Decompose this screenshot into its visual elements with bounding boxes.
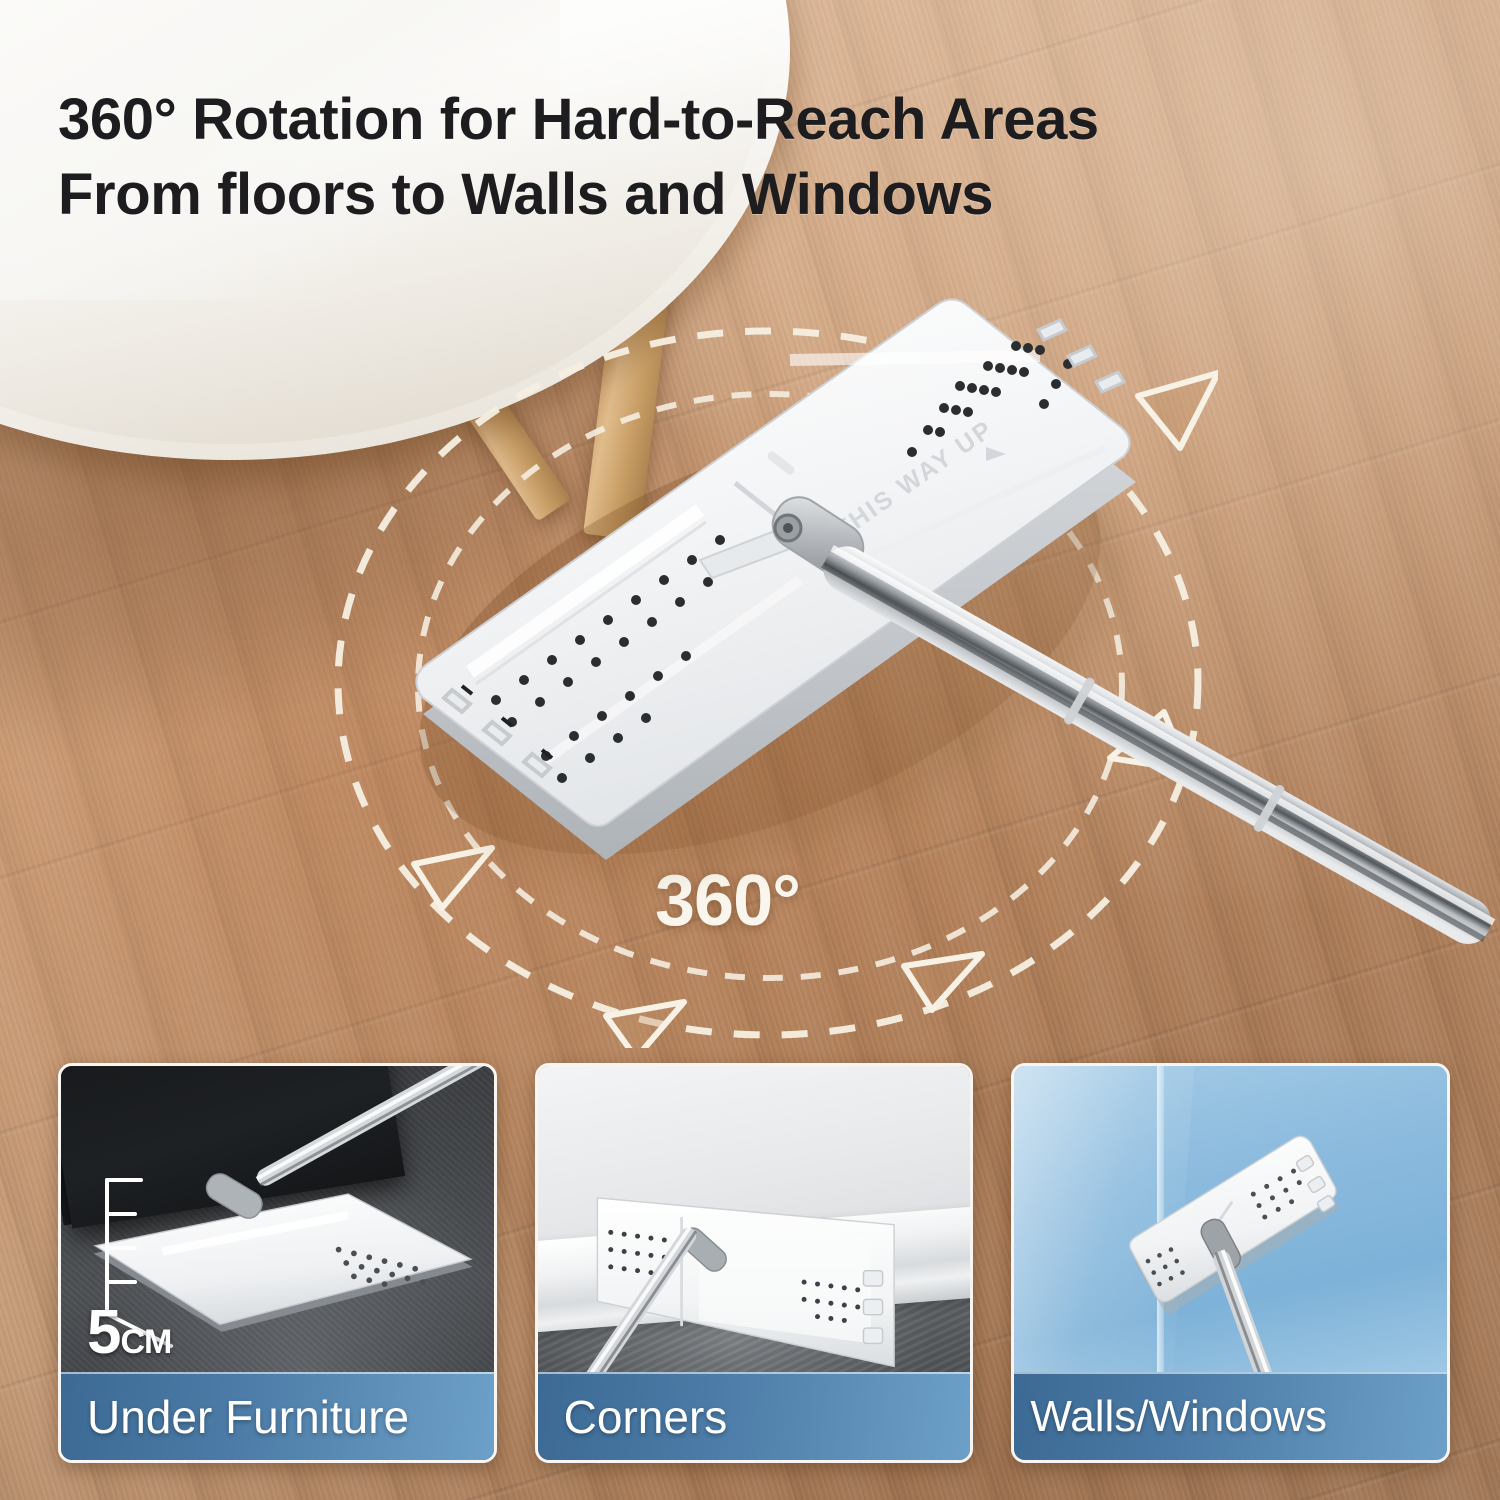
thumbnail-corners[interactable]: Corners xyxy=(535,1063,974,1463)
scale-value-label: 5CM xyxy=(87,1297,171,1368)
caption-label: Corners xyxy=(538,1390,728,1444)
scale-ticks xyxy=(107,1180,141,1282)
page-headline: 360° Rotation for Hard-to-Reach Areas Fr… xyxy=(58,82,1458,233)
scale-number: 5 xyxy=(87,1298,120,1367)
product-feature-image: 360° xyxy=(0,0,1500,1500)
caption-bar-walls-windows: Walls/Windows xyxy=(1014,1372,1447,1460)
caption-label: Under Furniture xyxy=(61,1390,409,1444)
headline-line-1: 360° Rotation for Hard-to-Reach Areas xyxy=(58,82,1458,157)
caption-label: Walls/Windows xyxy=(1014,1392,1327,1442)
thumbnail-walls-windows[interactable]: Walls/Windows xyxy=(1011,1063,1450,1463)
mop-pole xyxy=(254,1066,494,1189)
caption-bar-under-furniture: Under Furniture xyxy=(61,1372,494,1460)
rotation-degree-label: 360° xyxy=(655,860,800,942)
use-case-thumbnail-row: 5CM Under Furniture xyxy=(58,1063,1450,1463)
caption-bar-corners: Corners xyxy=(538,1372,971,1460)
headline-line-2: From floors to Walls and Windows xyxy=(58,157,1458,232)
mop-pad-clips xyxy=(863,1271,882,1344)
pole-tube xyxy=(254,1066,494,1189)
thumbnail-under-furniture[interactable]: 5CM Under Furniture xyxy=(58,1063,497,1463)
scale-unit: CM xyxy=(120,1323,171,1361)
